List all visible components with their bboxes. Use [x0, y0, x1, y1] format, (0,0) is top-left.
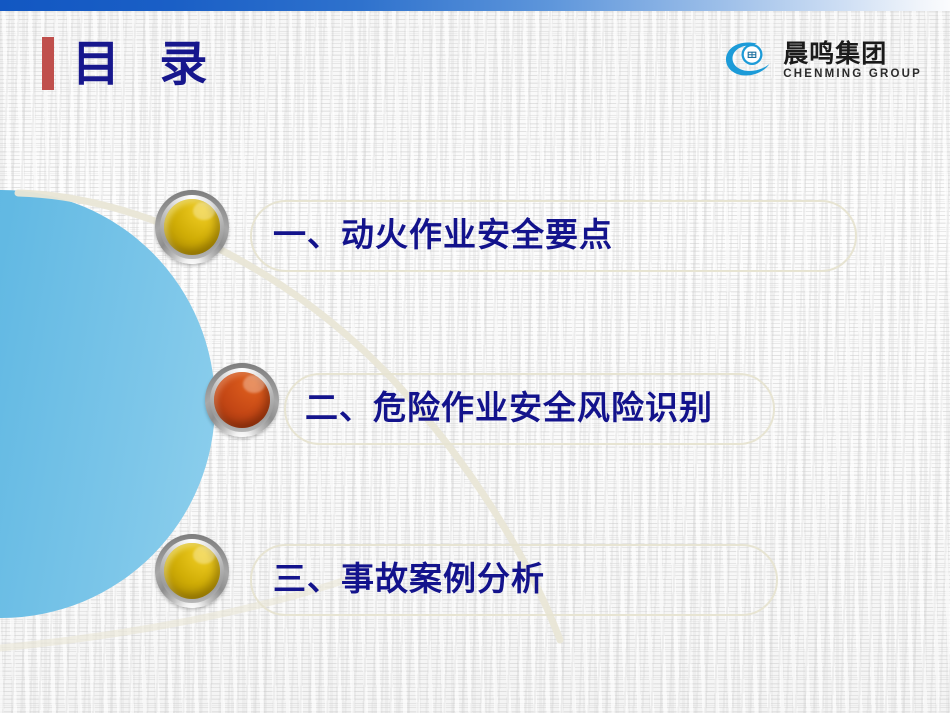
agenda-item-2[interactable]: 二、危险作业安全风险识别 [205, 363, 825, 455]
agenda-item-1-ball [164, 199, 220, 255]
logo-text-block: 晨鸣集团 CHENMING GROUP [783, 41, 922, 81]
title-accent-bar [42, 37, 54, 90]
agenda-item-1-label: 一、动火作业安全要点 [273, 218, 613, 251]
agenda-item-3[interactable]: 三、事故案例分析 [155, 534, 805, 626]
page-title: 目 录 [42, 37, 209, 90]
logo-name-en: CHENMING GROUP [783, 68, 922, 81]
ball-highlight [243, 375, 265, 393]
agenda-item-2-label: 二、危险作业安全风险识别 [305, 391, 713, 424]
ball-highlight [193, 546, 215, 564]
chenming-swoosh-icon [723, 39, 775, 83]
logo-name-cn: 晨鸣集团 [783, 41, 922, 67]
gold-sphere-bullet [155, 190, 229, 264]
agenda-item-1[interactable]: 一、动火作业安全要点 [155, 190, 775, 282]
company-logo: 晨鸣集团 CHENMING GROUP [723, 33, 922, 89]
ball-highlight [193, 202, 215, 220]
presentation-slide: 目 录 晨鸣集团 CHENMING GROUP [0, 0, 950, 713]
top-accent-bar [0, 0, 950, 11]
title-text: 目 录 [72, 40, 209, 88]
gold-sphere-bullet [155, 534, 229, 608]
agenda-item-3-label: 三、事故案例分析 [273, 562, 545, 595]
agenda-item-3-ball [164, 543, 220, 599]
rust-sphere-bullet [205, 363, 279, 437]
agenda-item-2-ball [214, 372, 270, 428]
slide-header: 目 录 晨鸣集团 CHENMING GROUP [0, 11, 950, 106]
agenda-list: 一、动火作业安全要点 二、危险作业安全风险识别 三、事故案例分析 [0, 0, 950, 713]
